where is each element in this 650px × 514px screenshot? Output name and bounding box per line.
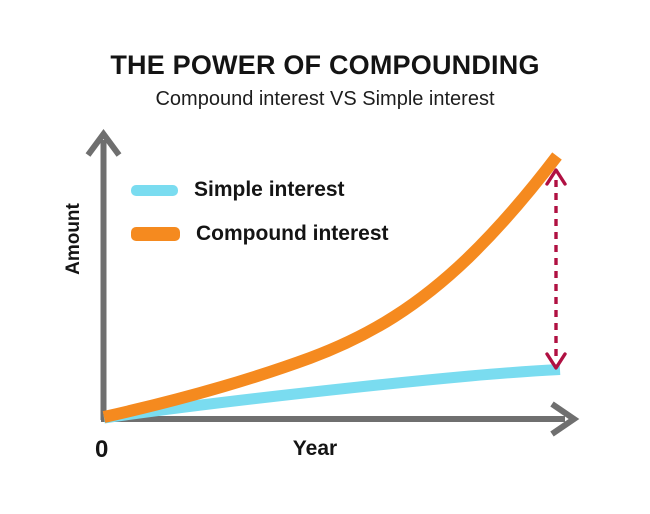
- chart-legend: Simple interest Compound interest: [131, 168, 461, 256]
- y-axis: [88, 134, 119, 420]
- legend-label-simple-interest: Simple interest: [194, 178, 345, 202]
- legend-label-compound-interest: Compound interest: [196, 222, 389, 246]
- difference-arrow: [547, 170, 565, 368]
- x-axis-origin-tick-label: 0: [95, 436, 108, 464]
- series-line-simple-interest: [104, 370, 560, 419]
- legend-item-compound-interest: Compound interest: [131, 212, 461, 256]
- legend-swatch-simple-interest: [131, 185, 178, 196]
- x-axis-label: Year: [255, 437, 375, 461]
- compounding-infographic: THE POWER OF COMPOUNDING Compound intere…: [0, 0, 650, 514]
- legend-item-simple-interest: Simple interest: [131, 168, 461, 212]
- y-axis-label: Amount: [63, 179, 85, 299]
- legend-swatch-compound-interest: [131, 227, 180, 241]
